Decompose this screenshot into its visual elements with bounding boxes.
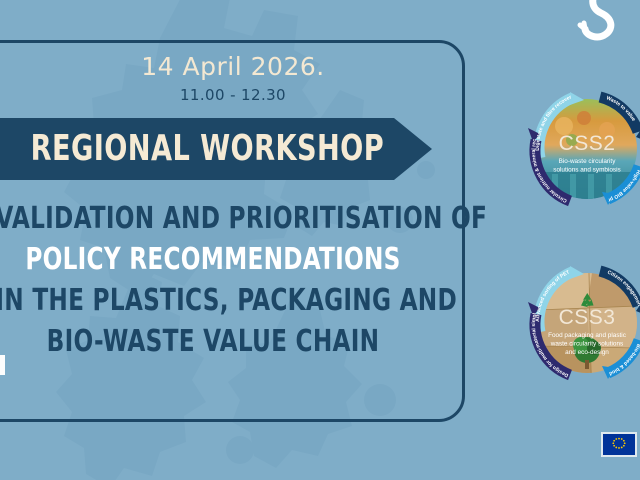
css3-description-line-3: and eco-design <box>565 349 609 356</box>
css2-description-line-2: solutions and symbiosis <box>553 167 621 174</box>
css2-description-line-1: Bio-waste circularity <box>559 158 617 165</box>
left-edge-chip <box>0 355 5 375</box>
case-study-css2: Digestate and fibre recovery Waste to va… <box>512 74 640 224</box>
event-time: 11.00 - 12.30 <box>0 86 466 104</box>
s-swoosh-logo <box>576 0 638 48</box>
css2-code: CSS2 <box>559 132 616 155</box>
regional-workshop-banner: REGIONAL WORKSHOP <box>0 118 432 180</box>
event-date-block: 14 April 2026. 11.00 - 12.30 <box>0 53 466 104</box>
eu-flag <box>601 432 637 457</box>
css3-code: CSS3 <box>559 306 616 329</box>
event-date: 14 April 2026. <box>0 53 466 81</box>
poster-canvas: 14 April 2026. 11.00 - 12.30 REGIONAL WO… <box>0 0 640 480</box>
title-line-1: VALIDATION AND PRIORITISATION OF <box>0 198 431 239</box>
banner-label: REGIONAL WORKSHOP <box>8 131 383 167</box>
title-line-2: POLICY RECOMMENDATIONS <box>0 239 431 280</box>
title-line-3: IN THE PLASTICS, PACKAGING AND <box>0 280 431 321</box>
css3-description-line-1: Food packaging and plastic <box>548 332 627 339</box>
title-line-4: BIO-WASTE VALUE CHAIN <box>0 321 431 362</box>
event-title: VALIDATION AND PRIORITISATION OF POLICY … <box>0 198 466 362</box>
css3-description-line-2: waste circularity solutions <box>550 341 623 348</box>
case-study-css3: Advanced sorting of PET Citizen engageme… <box>512 248 640 398</box>
